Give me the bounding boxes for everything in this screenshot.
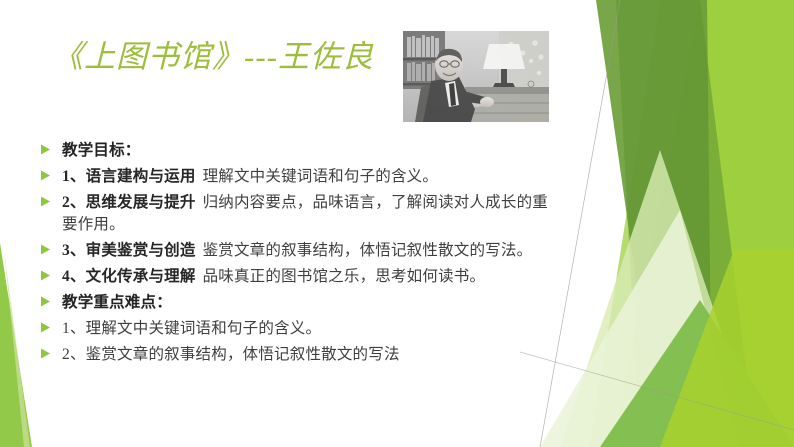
list-item-text: 2、鉴赏文章的叙事结构，体悟记叙性散文的写法 — [62, 344, 560, 366]
triangle-bullet-icon — [40, 266, 62, 281]
bullet-list: 教学目标： 1、语言建构与运用理解文中关键词语和句子的含义。 2、思维发展与提升… — [40, 140, 560, 370]
list-item: 1、理解文中关键词语和句子的含义。 — [40, 318, 560, 340]
presentation-slide: 《上图书馆》---王佐良 — [0, 0, 794, 447]
list-item-lead: 教学目标： — [62, 142, 141, 159]
list-item-text: 4、文化传承与理解品味真正的图书馆之乐，思考如何读书。 — [62, 266, 560, 288]
list-item-text: 3、审美鉴赏与创造鉴赏文章的叙事结构，体悟记叙性散文的写法。 — [62, 240, 560, 262]
list-item: 教学重点难点： — [40, 292, 560, 314]
triangle-bullet-icon — [40, 292, 62, 307]
list-item: 3、审美鉴赏与创造鉴赏文章的叙事结构，体悟记叙性散文的写法。 — [40, 240, 560, 262]
list-item-text: 1、理解文中关键词语和句子的含义。 — [62, 318, 560, 340]
decor-shape-pale-wedge — [560, 150, 760, 447]
list-item-text: 1、语言建构与运用理解文中关键词语和句子的含义。 — [62, 166, 560, 188]
list-item-rest: 2、鉴赏文章的叙事结构，体悟记叙性散文的写法 — [62, 346, 400, 363]
list-item-lead: 3、审美鉴赏与创造 — [62, 242, 196, 259]
triangle-bullet-icon — [40, 166, 62, 181]
list-item-rest: 1、理解文中关键词语和句子的含义。 — [62, 320, 321, 337]
triangle-bullet-icon — [40, 344, 62, 359]
decor-shape-right-bright — [590, 0, 794, 447]
portrait-photo — [403, 31, 549, 122]
portrait-image — [403, 31, 549, 122]
list-item-rest: 鉴赏文章的叙事结构，体悟记叙性散文的写法。 — [203, 242, 533, 259]
list-item-rest: 品味真正的图书馆之乐，思考如何读书。 — [203, 268, 486, 285]
list-item: 2、思维发展与提升归纳内容要点，品味语言，了解阅读对人成长的重要作用。 — [40, 192, 560, 236]
list-item: 4、文化传承与理解品味真正的图书馆之乐，思考如何读书。 — [40, 266, 560, 288]
list-item-lead: 4、文化传承与理解 — [62, 268, 196, 285]
decor-shape-lower-green — [600, 300, 794, 447]
decor-shape-dark-band — [596, 0, 712, 447]
decor-shape-mid-diagonal — [616, 0, 756, 447]
triangle-bullet-icon — [40, 140, 62, 155]
list-item-lead: 2、思维发展与提升 — [62, 194, 196, 211]
decor-shape-bottom-left — [0, 243, 32, 447]
triangle-bullet-icon — [40, 192, 62, 207]
list-item-text: 教学目标： — [62, 140, 560, 162]
list-item: 教学目标： — [40, 140, 560, 162]
list-item-rest: 理解文中关键词语和句子的含义。 — [203, 168, 439, 185]
triangle-bullet-icon — [40, 318, 62, 333]
list-item-text: 2、思维发展与提升归纳内容要点，品味语言，了解阅读对人成长的重要作用。 — [62, 192, 560, 236]
decor-shape-bottom-lime — [660, 250, 794, 447]
list-item-text: 教学重点难点： — [62, 292, 560, 314]
decor-shape-palest-wedge — [540, 210, 740, 447]
decor-shape-bottom-left-pale — [4, 250, 30, 447]
list-item: 1、语言建构与运用理解文中关键词语和句子的含义。 — [40, 166, 560, 188]
page-title: 《上图书馆》---王佐良 — [52, 38, 374, 77]
decor-shape-right-light — [612, 0, 794, 447]
list-item-lead: 教学重点难点： — [62, 294, 172, 311]
triangle-bullet-icon — [40, 240, 62, 255]
decor-hairline-2 — [520, 352, 794, 430]
list-item: 2、鉴赏文章的叙事结构，体悟记叙性散文的写法 — [40, 344, 560, 366]
list-item-lead: 1、语言建构与运用 — [62, 168, 196, 185]
